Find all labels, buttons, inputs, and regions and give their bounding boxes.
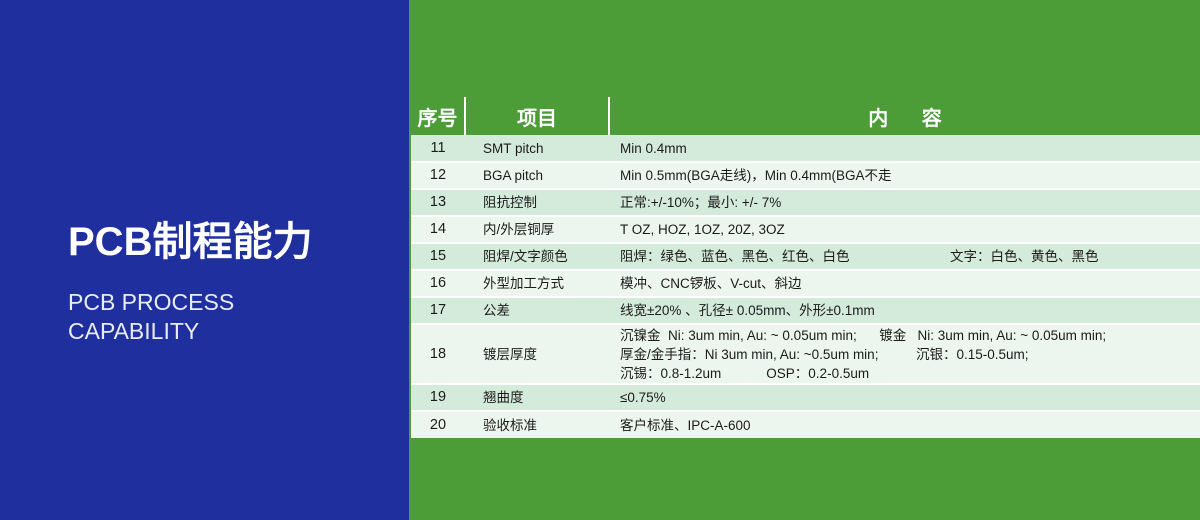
column-header-content: 内 容 bbox=[609, 97, 1200, 135]
table-head: 序号 项目 内 容 bbox=[411, 97, 1200, 135]
row-content: 客户标准、IPC-A-600 bbox=[609, 411, 1200, 438]
row-item: 阻抗控制 bbox=[465, 189, 609, 216]
table-row: 15 阻焊/文字颜色 阻焊：绿色、蓝色、黑色、红色、白色 文字：白色、黄色、黑色 bbox=[411, 243, 1200, 270]
row-no: 17 bbox=[411, 297, 465, 324]
row-no: 13 bbox=[411, 189, 465, 216]
row-item: 阻焊/文字颜色 bbox=[465, 243, 609, 270]
row-content-line-2: 厚金/金手指：Ni 3um min, Au: ~0.5um min; 沉银：0.… bbox=[620, 345, 1200, 364]
table-row: 19 翘曲度 ≤0.75% bbox=[411, 384, 1200, 411]
row-no: 11 bbox=[411, 135, 465, 162]
row-item: 镀层厚度 bbox=[465, 324, 609, 384]
row-content: 沉镍金 Ni: 3um min, Au: ~ 0.05um min; 镀金 Ni… bbox=[609, 324, 1200, 384]
row-no: 19 bbox=[411, 384, 465, 411]
table-body: 11 SMT pitch Min 0.4mm 12 BGA pitch Min … bbox=[411, 135, 1200, 438]
row-item: 验收标准 bbox=[465, 411, 609, 438]
row-item: BGA pitch bbox=[465, 162, 609, 189]
table-row: 18 镀层厚度 沉镍金 Ni: 3um min, Au: ~ 0.05um mi… bbox=[411, 324, 1200, 384]
row-content-solder-mask: 阻焊：绿色、蓝色、黑色、红色、白色 bbox=[620, 248, 950, 265]
row-item: 公差 bbox=[465, 297, 609, 324]
table-row: 17 公差 线宽±20% 、孔径± 0.05mm、外形±0.1mm bbox=[411, 297, 1200, 324]
row-no: 16 bbox=[411, 270, 465, 297]
row-content: 模冲、CNC锣板、V-cut、斜边 bbox=[609, 270, 1200, 297]
table-header-row: 序号 项目 内 容 bbox=[411, 97, 1200, 135]
column-header-no: 序号 bbox=[411, 97, 465, 135]
row-no: 18 bbox=[411, 324, 465, 384]
page-subtitle: PCB PROCESS CAPABILITY bbox=[68, 288, 398, 346]
row-item: SMT pitch bbox=[465, 135, 609, 162]
table-bottom-edge bbox=[411, 443, 1200, 446]
table-row: 20 验收标准 客户标准、IPC-A-600 bbox=[411, 411, 1200, 438]
row-no: 14 bbox=[411, 216, 465, 243]
row-content: Min 0.5mm(BGA走线)，Min 0.4mm(BGA不走 bbox=[609, 162, 1200, 189]
page-subtitle-line1: PCB PROCESS bbox=[68, 288, 398, 317]
row-item: 翘曲度 bbox=[465, 384, 609, 411]
row-content: 阻焊：绿色、蓝色、黑色、红色、白色 文字：白色、黄色、黑色 bbox=[609, 243, 1200, 270]
row-content-line-3: 沉锡：0.8-1.2um OSP：0.2-0.5um bbox=[620, 364, 1200, 383]
table-row: 16 外型加工方式 模冲、CNC锣板、V-cut、斜边 bbox=[411, 270, 1200, 297]
page-subtitle-line2: CAPABILITY bbox=[68, 317, 398, 346]
title-block: PCB制程能力 PCB PROCESS CAPABILITY bbox=[68, 218, 398, 346]
left-title-panel: PCB制程能力 PCB PROCESS CAPABILITY bbox=[0, 0, 409, 520]
row-content: 正常:+/-10%；最小: +/- 7% bbox=[609, 189, 1200, 216]
row-content-line-1: 沉镍金 Ni: 3um min, Au: ~ 0.05um min; 镀金 Ni… bbox=[620, 326, 1200, 345]
row-no: 15 bbox=[411, 243, 465, 270]
table-row: 12 BGA pitch Min 0.5mm(BGA走线)，Min 0.4mm(… bbox=[411, 162, 1200, 189]
spec-table: 序号 项目 内 容 11 SMT pitch Min 0.4mm 12 BGA … bbox=[411, 97, 1200, 438]
page-title: PCB制程能力 bbox=[68, 218, 398, 266]
table-row: 13 阻抗控制 正常:+/-10%；最小: +/- 7% bbox=[411, 189, 1200, 216]
slide-root: PCB制程能力 PCB PROCESS CAPABILITY 序号 项目 内 容 bbox=[0, 0, 1200, 520]
row-no: 12 bbox=[411, 162, 465, 189]
row-no: 20 bbox=[411, 411, 465, 438]
row-content: T OZ, HOZ, 1OZ, 20Z, 3OZ bbox=[609, 216, 1200, 243]
spec-table-wrapper: 序号 项目 内 容 11 SMT pitch Min 0.4mm 12 BGA … bbox=[411, 97, 1200, 438]
row-content-silkscreen: 文字：白色、黄色、黑色 bbox=[950, 248, 1099, 265]
row-item: 内/外层铜厚 bbox=[465, 216, 609, 243]
column-header-item: 项目 bbox=[465, 97, 609, 135]
table-row: 11 SMT pitch Min 0.4mm bbox=[411, 135, 1200, 162]
row-item: 外型加工方式 bbox=[465, 270, 609, 297]
row-content: 线宽±20% 、孔径± 0.05mm、外形±0.1mm bbox=[609, 297, 1200, 324]
row-content: Min 0.4mm bbox=[609, 135, 1200, 162]
table-row: 14 内/外层铜厚 T OZ, HOZ, 1OZ, 20Z, 3OZ bbox=[411, 216, 1200, 243]
row-content: ≤0.75% bbox=[609, 384, 1200, 411]
